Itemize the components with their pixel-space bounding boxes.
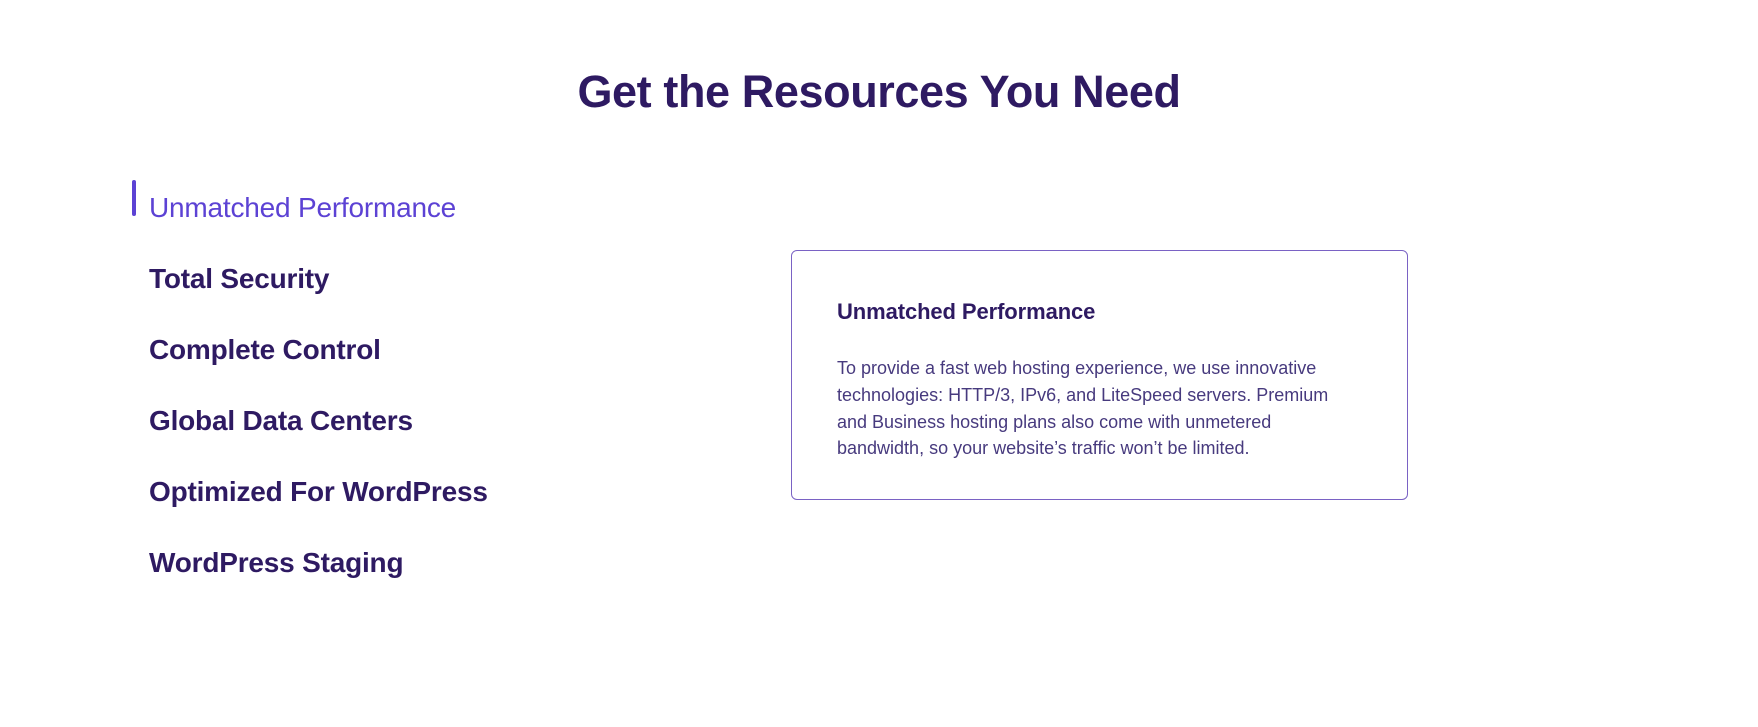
resources-section: Get the Resources You Need Unmatched Per… bbox=[0, 0, 1758, 727]
panel-description: To provide a fast web hosting experience… bbox=[837, 355, 1361, 462]
tab-global-data-centers[interactable]: Global Data Centers bbox=[132, 385, 732, 456]
tab-complete-control[interactable]: Complete Control bbox=[132, 314, 732, 385]
active-tab-indicator bbox=[132, 180, 136, 216]
tab-label: Global Data Centers bbox=[149, 403, 413, 439]
tab-label: Complete Control bbox=[149, 332, 381, 368]
tab-optimized-for-wordpress[interactable]: Optimized For WordPress bbox=[132, 456, 732, 527]
feature-tab-list: Unmatched Performance Total Security Com… bbox=[132, 172, 732, 598]
tab-label: WordPress Staging bbox=[149, 545, 403, 581]
tab-total-security[interactable]: Total Security bbox=[132, 243, 732, 314]
tab-wordpress-staging[interactable]: WordPress Staging bbox=[132, 527, 732, 598]
page-title: Get the Resources You Need bbox=[0, 62, 1758, 122]
panel-title: Unmatched Performance bbox=[837, 297, 1361, 327]
tab-unmatched-performance[interactable]: Unmatched Performance bbox=[132, 172, 732, 243]
tab-label: Total Security bbox=[149, 261, 329, 297]
tab-label: Unmatched Performance bbox=[149, 190, 456, 226]
tab-label: Optimized For WordPress bbox=[149, 474, 488, 510]
tab-content-panel: Unmatched Performance To provide a fast … bbox=[791, 250, 1408, 500]
